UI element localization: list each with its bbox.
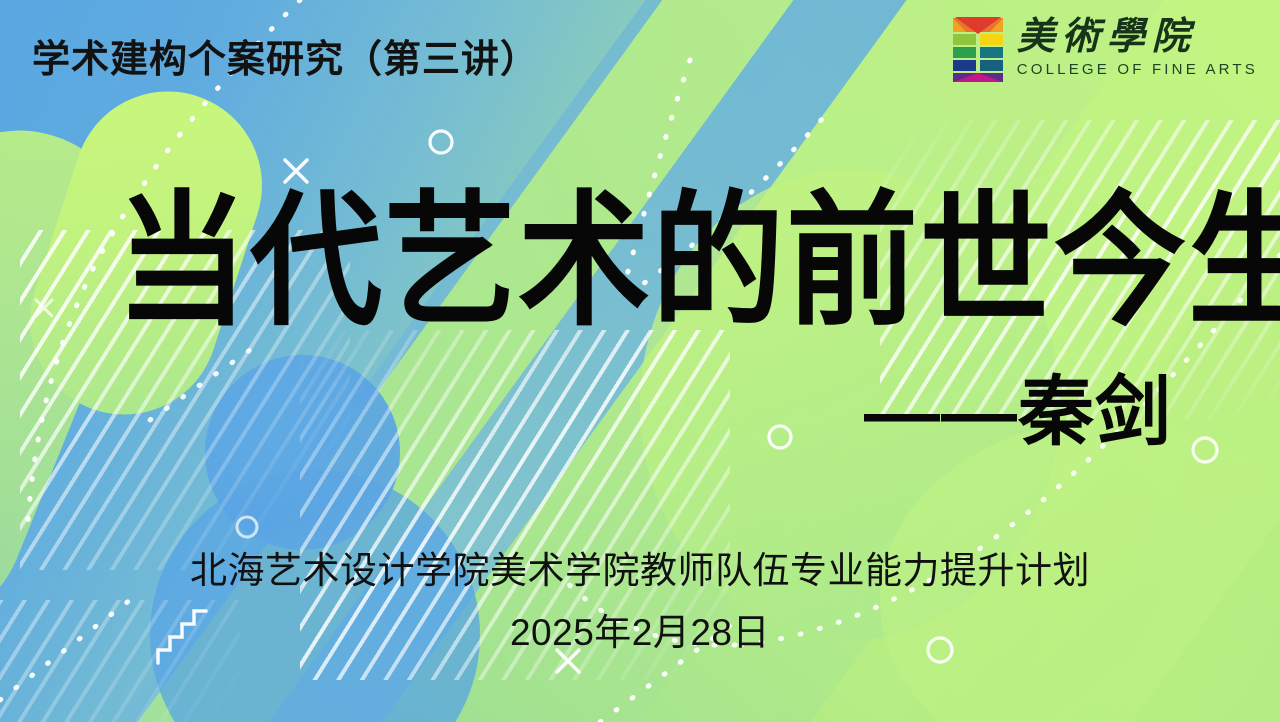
- main-title: 当代艺术的前世今生: [116, 185, 1280, 339]
- title-slide: 学术建构个案研究（第三讲） 美術學院 COLLEGE: [0, 0, 1280, 722]
- author-line: ——秦剑: [864, 350, 1172, 460]
- footer-organization: 北海艺术设计学院美术学院教师队伍专业能力提升计划: [0, 540, 1280, 594]
- footer-block: 北海艺术设计学院美术学院教师队伍专业能力提升计划 2025年2月28日: [0, 540, 1280, 656]
- college-rainbow-grid-mark-icon: [951, 12, 1005, 84]
- logo-name-en: COLLEGE OF FINE ARTS: [1017, 61, 1258, 78]
- logo-name-cn: 美術學院: [1017, 18, 1197, 58]
- header-title: 学术建构个案研究（第三讲）: [32, 28, 539, 83]
- college-logo: 美術學院 COLLEGE OF FINE ARTS: [951, 12, 1258, 84]
- footer-date: 2025年2月28日: [0, 602, 1280, 656]
